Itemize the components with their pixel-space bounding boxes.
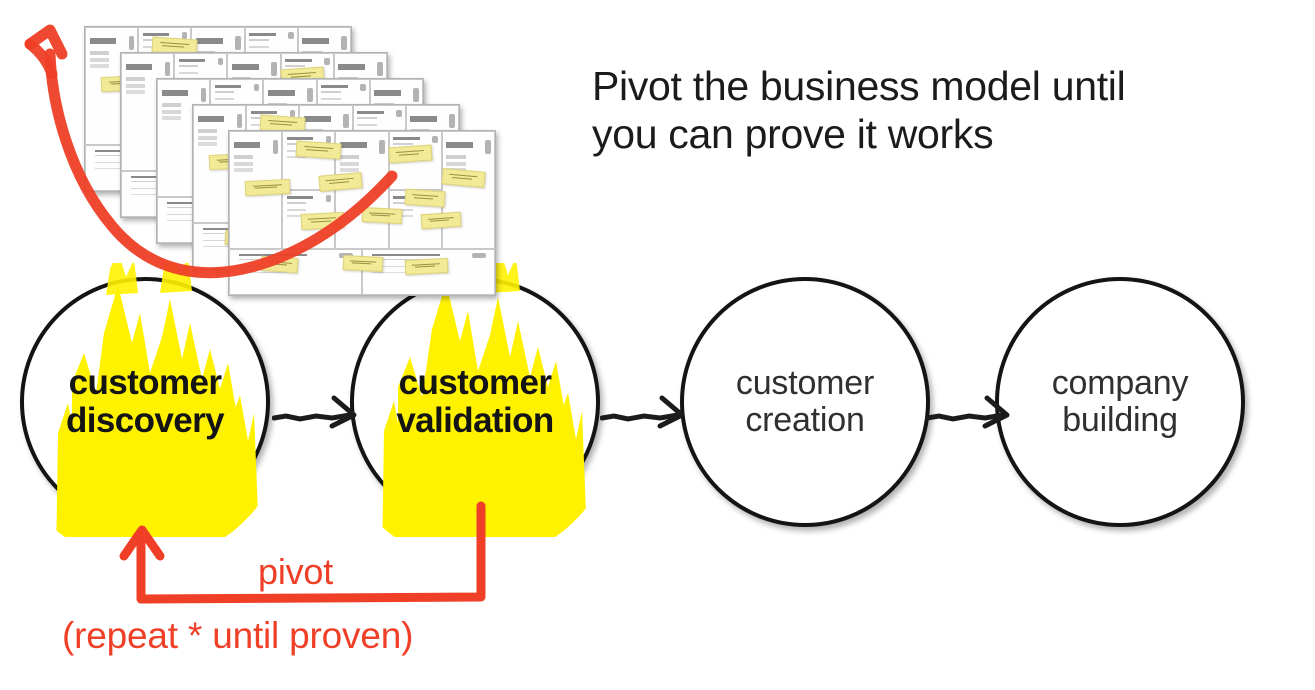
sticky-note	[420, 212, 461, 229]
canvas-block-icon	[307, 88, 313, 102]
sticky-note	[260, 256, 298, 273]
connector-arrow-3	[925, 388, 1017, 432]
canvas-block-icon	[360, 84, 366, 91]
connector-arrow-2	[600, 388, 692, 432]
pivot-annotation-label: pivot	[258, 551, 333, 593]
business-model-canvas-sheet	[228, 130, 496, 296]
repeat-annotation-label: (repeat * until proven)	[62, 615, 413, 657]
stage-label: customer validation	[350, 277, 600, 527]
stage-label: customer discovery	[20, 277, 270, 527]
canvas-block-icon	[343, 114, 349, 128]
sticky-note	[300, 212, 343, 231]
canvas-block-icon	[324, 58, 330, 65]
stage-node-customer-creation[interactable]: customer creation	[680, 277, 930, 527]
canvas-block	[442, 131, 495, 249]
sticky-note	[319, 172, 363, 192]
stage-label: company building	[995, 277, 1245, 527]
canvas-block-icon	[271, 62, 277, 76]
canvas-block-icon	[165, 62, 171, 76]
canvas-block-icon	[129, 36, 135, 50]
canvas-block-icon	[379, 140, 385, 154]
canvas-block-icon	[432, 136, 438, 143]
sticky-note	[362, 207, 403, 224]
canvas-block-icon	[413, 88, 419, 102]
canvas-block-icon	[201, 88, 207, 102]
page-title: Pivot the business model until you can p…	[592, 62, 1292, 158]
stage-node-company-building[interactable]: company building	[995, 277, 1245, 527]
sticky-note	[343, 255, 384, 272]
canvas-block-icon	[273, 140, 279, 154]
canvas-block-icon	[396, 110, 402, 117]
canvas-block-icon	[449, 114, 455, 128]
business-model-canvas-stack	[84, 26, 504, 294]
stage-label: customer creation	[680, 277, 930, 527]
canvas-block-icon	[377, 62, 383, 76]
canvas-block-icon	[254, 84, 260, 91]
canvas-block-icon	[237, 114, 243, 128]
canvas-block-icon	[341, 36, 347, 50]
diagram-canvas: Pivot the business model until you can p…	[0, 0, 1315, 685]
canvas-block-icon	[472, 253, 486, 258]
sticky-note	[404, 258, 447, 275]
canvas-block-icon	[485, 140, 491, 154]
canvas-block-icon	[235, 36, 241, 50]
canvas-block-icon	[288, 32, 294, 39]
sticky-note	[388, 144, 432, 163]
canvas-block-icon	[326, 195, 332, 202]
stage-node-customer-discovery[interactable]: customer discovery	[20, 277, 270, 527]
sticky-note	[245, 179, 291, 196]
stage-node-customer-validation[interactable]: customer validation	[350, 277, 600, 527]
canvas-block-icon	[218, 58, 224, 65]
sticky-note	[404, 189, 445, 208]
connector-arrow-1	[272, 388, 364, 432]
